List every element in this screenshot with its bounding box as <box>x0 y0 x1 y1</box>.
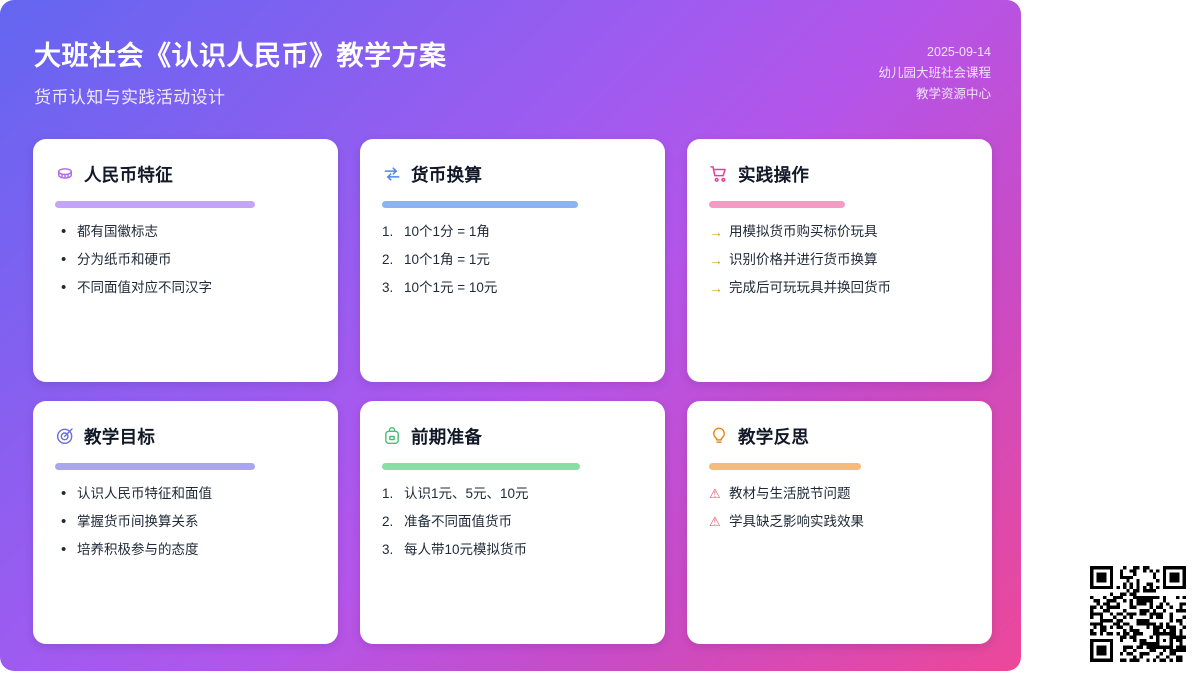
card-title: 教学反思 <box>738 424 809 449</box>
card-header: 教学目标 <box>55 423 316 449</box>
card-body: 1.10个1分 = 1角2.10个1角 = 1元3.10个1元 = 10元 <box>382 223 643 297</box>
list-item-text: 10个1元 = 10元 <box>404 279 643 297</box>
page-header: 大班社会《认识人民币》教学方案 货币认知与实践活动设计 2025-09-14 幼… <box>0 0 1021 125</box>
list-item: →完成后可玩玩具并换回货币 <box>709 279 970 297</box>
list-item: ⚠教材与生活脱节问题 <box>709 485 970 503</box>
list-item: 3.每人带10元模拟货币 <box>382 541 643 559</box>
meta-organization: 教学资源中心 <box>878 84 991 105</box>
list-marker: • <box>55 485 77 503</box>
header-titles: 大班社会《认识人民币》教学方案 货币认知与实践活动设计 <box>34 28 447 108</box>
list-marker: 1. <box>382 485 404 503</box>
list-item-text: 教材与生活脱节问题 <box>729 485 970 503</box>
card-list: ⚠教材与生活脱节问题⚠学具缺乏影响实践效果 <box>709 485 970 531</box>
header-meta: 2025-09-14 幼儿园大班社会课程 教学资源中心 <box>878 28 991 105</box>
list-marker: 2. <box>382 251 404 269</box>
list-item-text: 完成后可玩玩具并换回货币 <box>729 279 970 297</box>
backpack-icon <box>382 426 402 446</box>
qr-code[interactable] <box>1090 566 1186 662</box>
list-item-text: 认识1元、5元、10元 <box>404 485 643 503</box>
list-marker: • <box>55 279 77 297</box>
card-title: 教学目标 <box>84 424 155 449</box>
card-header: 教学反思 <box>709 423 970 449</box>
card-body: •认识人民币特征和面值•掌握货币间换算关系•培养积极参与的态度 <box>55 485 316 559</box>
gradient-panel: 大班社会《认识人民币》教学方案 货币认知与实践活动设计 2025-09-14 幼… <box>0 0 1021 671</box>
list-item-text: 都有国徽标志 <box>77 223 316 241</box>
card-header: 前期准备 <box>382 423 643 449</box>
card-preparation[interactable]: 前期准备1.认识1元、5元、10元2.准备不同面值货币3.每人带10元模拟货币 <box>360 401 665 644</box>
card-title: 前期准备 <box>411 424 482 449</box>
list-marker: • <box>55 513 77 531</box>
card-title: 货币换算 <box>411 162 482 187</box>
list-item-text: 10个1角 = 1元 <box>404 251 643 269</box>
list-marker: 2. <box>382 513 404 531</box>
list-marker: • <box>55 223 77 241</box>
card-list: →用模拟货币购买标价玩具→识别价格并进行货币换算→完成后可玩玩具并换回货币 <box>709 223 970 297</box>
card-currency-conversion[interactable]: 货币换算1.10个1分 = 1角2.10个1角 = 1元3.10个1元 = 10… <box>360 139 665 382</box>
card-currency-features[interactable]: 人民币特征•都有国徽标志•分为纸币和硬币•不同面值对应不同汉字 <box>33 139 338 382</box>
list-marker: 1. <box>382 223 404 241</box>
card-teaching-reflection[interactable]: 教学反思⚠教材与生活脱节问题⚠学具缺乏影响实践效果 <box>687 401 992 644</box>
list-item: 1.10个1分 = 1角 <box>382 223 643 241</box>
page-root: 大班社会《认识人民币》教学方案 货币认知与实践活动设计 2025-09-14 幼… <box>0 0 1200 675</box>
page-subtitle: 货币认知与实践活动设计 <box>34 83 447 108</box>
list-item: ⚠学具缺乏影响实践效果 <box>709 513 970 531</box>
card-body: ⚠教材与生活脱节问题⚠学具缺乏影响实践效果 <box>709 485 970 531</box>
card-list: •都有国徽标志•分为纸币和硬币•不同面值对应不同汉字 <box>55 223 316 297</box>
list-item: 3.10个1元 = 10元 <box>382 279 643 297</box>
list-item: 2.准备不同面值货币 <box>382 513 643 531</box>
card-list: 1.10个1分 = 1角2.10个1角 = 1元3.10个1元 = 10元 <box>382 223 643 297</box>
list-item-text: 分为纸币和硬币 <box>77 251 316 269</box>
page-title: 大班社会《认识人民币》教学方案 <box>34 40 447 74</box>
target-icon <box>55 426 75 446</box>
list-item-text: 学具缺乏影响实践效果 <box>729 513 970 531</box>
list-marker: → <box>709 251 729 269</box>
list-marker: • <box>55 251 77 269</box>
card-accent-bar <box>55 463 255 470</box>
list-item: 1.认识1元、5元、10元 <box>382 485 643 503</box>
list-item: 2.10个1角 = 1元 <box>382 251 643 269</box>
list-item-text: 准备不同面值货币 <box>404 513 643 531</box>
list-marker: • <box>55 541 77 559</box>
card-accent-bar <box>709 201 845 208</box>
list-item: •培养积极参与的态度 <box>55 541 316 559</box>
list-item-text: 认识人民币特征和面值 <box>77 485 316 503</box>
card-accent-bar <box>382 463 580 470</box>
shopping-cart-icon <box>709 164 729 184</box>
list-marker: 3. <box>382 541 404 559</box>
card-list: •认识人民币特征和面值•掌握货币间换算关系•培养积极参与的态度 <box>55 485 316 559</box>
card-accent-bar <box>709 463 861 470</box>
list-marker: 3. <box>382 279 404 297</box>
meta-date: 2025-09-14 <box>878 42 991 63</box>
card-body: →用模拟货币购买标价玩具→识别价格并进行货币换算→完成后可玩玩具并换回货币 <box>709 223 970 297</box>
list-marker: → <box>709 279 729 297</box>
card-teaching-goals[interactable]: 教学目标•认识人民币特征和面值•掌握货币间换算关系•培养积极参与的态度 <box>33 401 338 644</box>
list-marker: ⚠ <box>709 485 729 503</box>
card-list: 1.认识1元、5元、10元2.准备不同面值货币3.每人带10元模拟货币 <box>382 485 643 559</box>
list-marker: ⚠ <box>709 513 729 531</box>
list-item-text: 掌握货币间换算关系 <box>77 513 316 531</box>
list-item-text: 10个1分 = 1角 <box>404 223 643 241</box>
list-marker: → <box>709 223 729 241</box>
list-item: •都有国徽标志 <box>55 223 316 241</box>
card-title: 实践操作 <box>738 162 809 187</box>
cards-grid: 人民币特征•都有国徽标志•分为纸币和硬币•不同面值对应不同汉字 货币换算1.10… <box>33 139 988 644</box>
list-item-text: 培养积极参与的态度 <box>77 541 316 559</box>
list-item: →用模拟货币购买标价玩具 <box>709 223 970 241</box>
meta-course: 幼儿园大班社会课程 <box>878 63 991 84</box>
card-header: 实践操作 <box>709 161 970 187</box>
list-item-text: 每人带10元模拟货币 <box>404 541 643 559</box>
list-item: •认识人民币特征和面值 <box>55 485 316 503</box>
qr-code-image <box>1090 566 1186 662</box>
list-item-text: 用模拟货币购买标价玩具 <box>729 223 970 241</box>
card-title: 人民币特征 <box>84 162 173 187</box>
card-body: 1.认识1元、5元、10元2.准备不同面值货币3.每人带10元模拟货币 <box>382 485 643 559</box>
card-header: 货币换算 <box>382 161 643 187</box>
card-practice-operation[interactable]: 实践操作→用模拟货币购买标价玩具→识别价格并进行货币换算→完成后可玩玩具并换回货… <box>687 139 992 382</box>
card-accent-bar <box>382 201 578 208</box>
lightbulb-icon <box>709 426 729 446</box>
card-body: •都有国徽标志•分为纸币和硬币•不同面值对应不同汉字 <box>55 223 316 297</box>
list-item: •分为纸币和硬币 <box>55 251 316 269</box>
list-item-text: 不同面值对应不同汉字 <box>77 279 316 297</box>
list-item-text: 识别价格并进行货币换算 <box>729 251 970 269</box>
card-header: 人民币特征 <box>55 161 316 187</box>
exchange-arrows-icon <box>382 164 402 184</box>
list-item: •不同面值对应不同汉字 <box>55 279 316 297</box>
list-item: •掌握货币间换算关系 <box>55 513 316 531</box>
coins-icon <box>55 164 75 184</box>
card-accent-bar <box>55 201 255 208</box>
list-item: →识别价格并进行货币换算 <box>709 251 970 269</box>
